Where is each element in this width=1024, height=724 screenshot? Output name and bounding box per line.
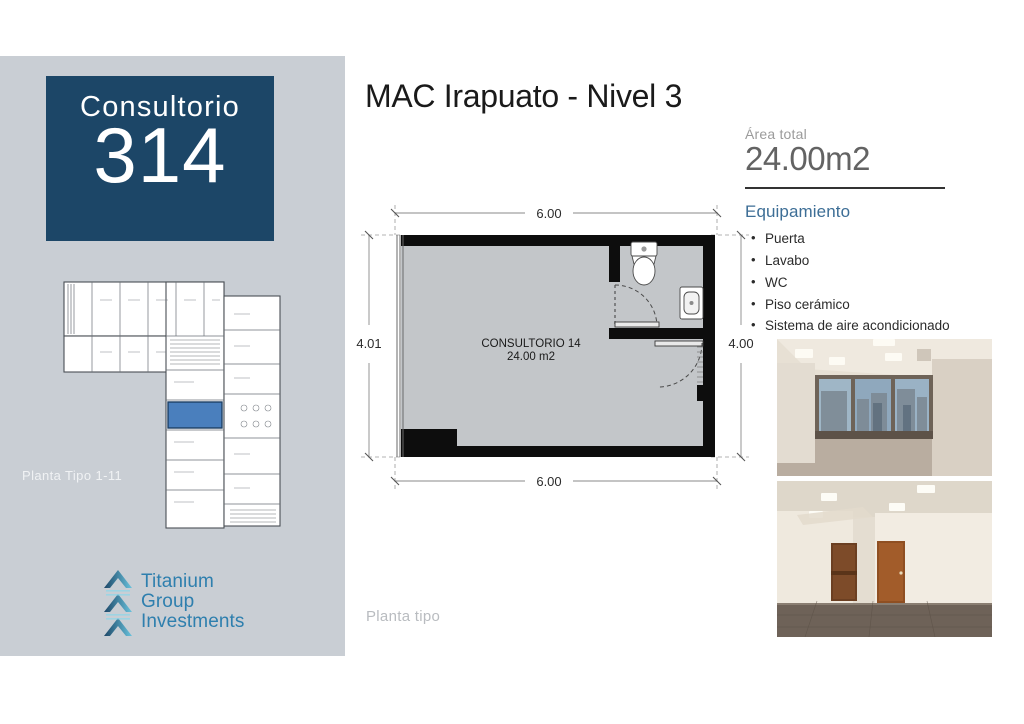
page-title: MAC Irapuato - Nivel 3 bbox=[365, 78, 682, 115]
dim-top-label: 6.00 bbox=[536, 206, 561, 221]
plan-caption: Planta tipo bbox=[366, 608, 440, 625]
company-logo: Titanium Group Investments bbox=[100, 566, 245, 638]
logo-text-line-1: Titanium bbox=[141, 572, 245, 592]
room-label: CONSULTORIO 14 bbox=[481, 338, 581, 350]
unit-badge: Consultorio 314 bbox=[46, 76, 274, 241]
keyplan-diagram bbox=[48, 278, 298, 536]
interior-photo-door-view bbox=[777, 481, 992, 637]
wc-fixture bbox=[631, 242, 657, 285]
chevron-logo-icon bbox=[100, 566, 136, 638]
equipment-list: Puerta Lavabo WC Piso cerámico Sistema d… bbox=[745, 228, 995, 337]
equipment-item: Puerta bbox=[745, 228, 995, 250]
equipment-item: Lavabo bbox=[745, 250, 995, 272]
interior-photo-window-view bbox=[777, 339, 992, 476]
equipment-title: Equipamiento bbox=[745, 202, 995, 222]
dim-bottom-label: 6.00 bbox=[536, 474, 561, 489]
lavabo-fixture bbox=[680, 287, 703, 319]
dim-left-label: 4.01 bbox=[356, 336, 381, 351]
equipment-item: Piso cerámico bbox=[745, 294, 995, 316]
room-area-label: 24.00 m2 bbox=[507, 351, 555, 363]
keyplan-highlighted-unit bbox=[168, 402, 222, 428]
logo-text-line-3: Investments bbox=[141, 612, 245, 632]
info-divider bbox=[745, 187, 945, 189]
floor-plan-drawing: 6.00 6.00 4.01 4.00 bbox=[345, 195, 765, 505]
logo-text-line-2: Group bbox=[141, 592, 245, 612]
unit-badge-number: 314 bbox=[93, 120, 226, 192]
area-total-value: 24.00m2 bbox=[745, 140, 995, 178]
unit-fact-sheet-page: Consultorio 314 bbox=[0, 0, 1024, 724]
equipment-item: Sistema de aire acondicionado bbox=[745, 315, 995, 337]
keyplan-caption: Planta Tipo 1-11 bbox=[22, 468, 122, 483]
sidebar: Consultorio 314 bbox=[0, 56, 345, 656]
info-panel: Área total 24.00m2 Equipamiento Puerta L… bbox=[745, 126, 995, 337]
dim-right-label: 4.00 bbox=[728, 336, 753, 351]
equipment-item: WC bbox=[745, 272, 995, 294]
